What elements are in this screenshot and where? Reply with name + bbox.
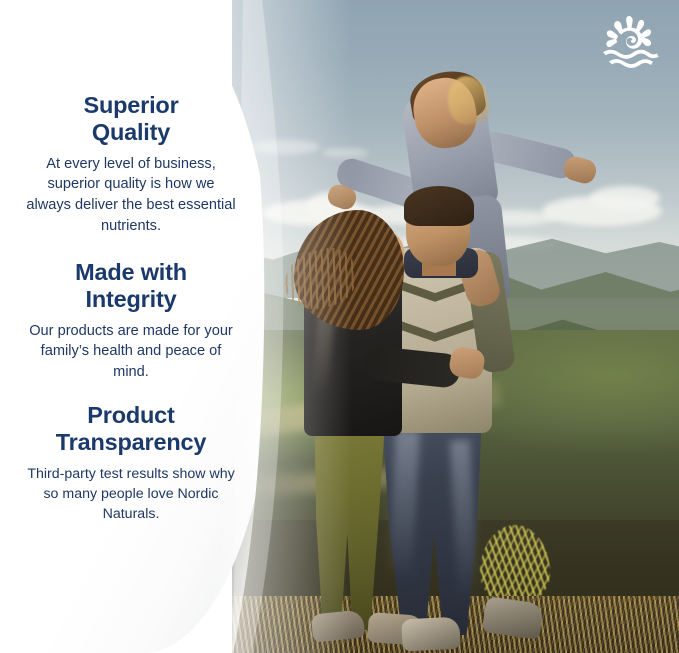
cloud [590,186,660,210]
feature-item-superior-quality: SuperiorQuality At every level of busine… [26,92,236,236]
cloud [322,148,368,158]
feature-heading-line1: Product [87,402,174,428]
feature-item-product-transparency: ProductTransparency Third-party test res… [26,402,236,524]
sun-wave-icon [599,14,661,70]
feature-heading: Made withIntegrity [26,259,236,313]
brand-feature-banner: SuperiorQuality At every level of busine… [0,0,679,653]
feature-heading: SuperiorQuality [26,92,236,146]
feature-item-made-with-integrity: Made withIntegrity Our products are made… [26,259,236,383]
feature-heading-line2: Transparency [56,429,206,455]
feature-body: Third-party test results show why so man… [26,464,236,524]
feature-heading-line2: Integrity [86,286,177,312]
feature-list: SuperiorQuality At every level of busine… [0,0,262,653]
feature-heading-line1: Superior [83,92,178,118]
feature-heading: ProductTransparency [26,402,236,456]
woman-shoe [311,609,366,642]
man-shoe [401,617,461,652]
feature-heading-line1: Made with [75,259,187,285]
lifestyle-photo [232,0,679,653]
feature-heading-line2: Quality [92,119,170,145]
feature-body: Our products are made for your family’s … [26,321,236,383]
feature-body: At every level of business, superior qua… [26,154,236,237]
man-hair [404,186,474,226]
